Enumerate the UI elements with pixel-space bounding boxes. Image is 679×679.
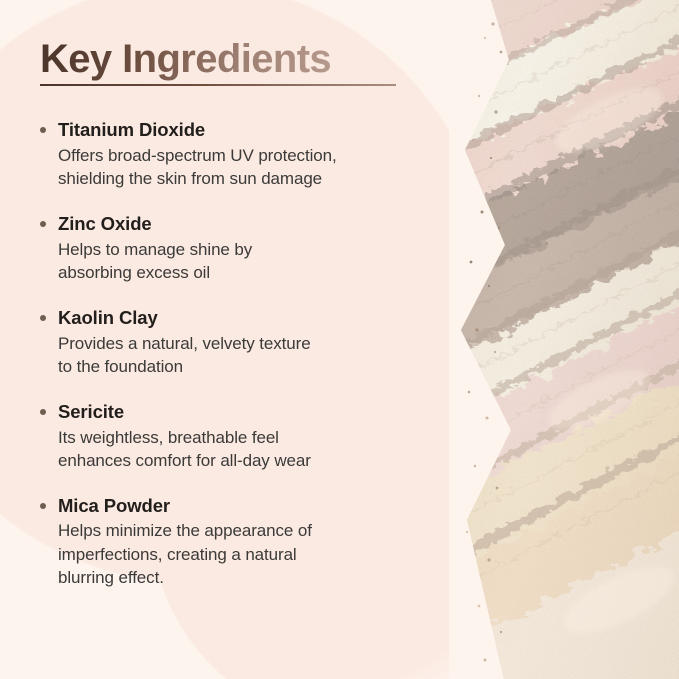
title-block: Key Ingredients bbox=[40, 38, 440, 86]
list-item: Mica Powder Helps minimize the appearanc… bbox=[40, 494, 450, 590]
ingredient-name: Sericite bbox=[58, 400, 450, 425]
ingredient-description: Its weightless, breathable feel enhances… bbox=[58, 426, 450, 473]
bullet-icon bbox=[40, 127, 46, 133]
ingredient-name: Kaolin Clay bbox=[58, 306, 450, 331]
powder-swatch-image bbox=[449, 0, 679, 679]
ingredient-description: Helps to manage shine by absorbing exces… bbox=[58, 238, 450, 285]
ingredient-name: Zinc Oxide bbox=[58, 212, 450, 237]
title-underline bbox=[40, 84, 396, 86]
ingredient-description: Helps minimize the appearance of imperfe… bbox=[58, 519, 450, 589]
ingredient-description: Offers broad-spectrum UV protection, shi… bbox=[58, 144, 450, 191]
ingredients-infographic: Key Ingredients Titanium Dioxide Offers … bbox=[0, 0, 679, 679]
bullet-icon bbox=[40, 409, 46, 415]
ingredient-name: Mica Powder bbox=[58, 494, 450, 519]
ingredient-description: Provides a natural, velvety texture to t… bbox=[58, 332, 450, 379]
ingredient-list: Titanium Dioxide Offers broad-spectrum U… bbox=[40, 118, 450, 590]
bullet-icon bbox=[40, 221, 46, 227]
bullet-icon bbox=[40, 503, 46, 509]
list-item: Kaolin Clay Provides a natural, velvety … bbox=[40, 306, 450, 379]
bullet-icon bbox=[40, 315, 46, 321]
content-column: Key Ingredients Titanium Dioxide Offers … bbox=[0, 0, 470, 679]
ingredient-name: Titanium Dioxide bbox=[58, 118, 450, 143]
list-item: Zinc Oxide Helps to manage shine by abso… bbox=[40, 212, 450, 285]
list-item: Sericite Its weightless, breathable feel… bbox=[40, 400, 450, 473]
page-title: Key Ingredients bbox=[40, 38, 331, 82]
list-item: Titanium Dioxide Offers broad-spectrum U… bbox=[40, 118, 450, 191]
